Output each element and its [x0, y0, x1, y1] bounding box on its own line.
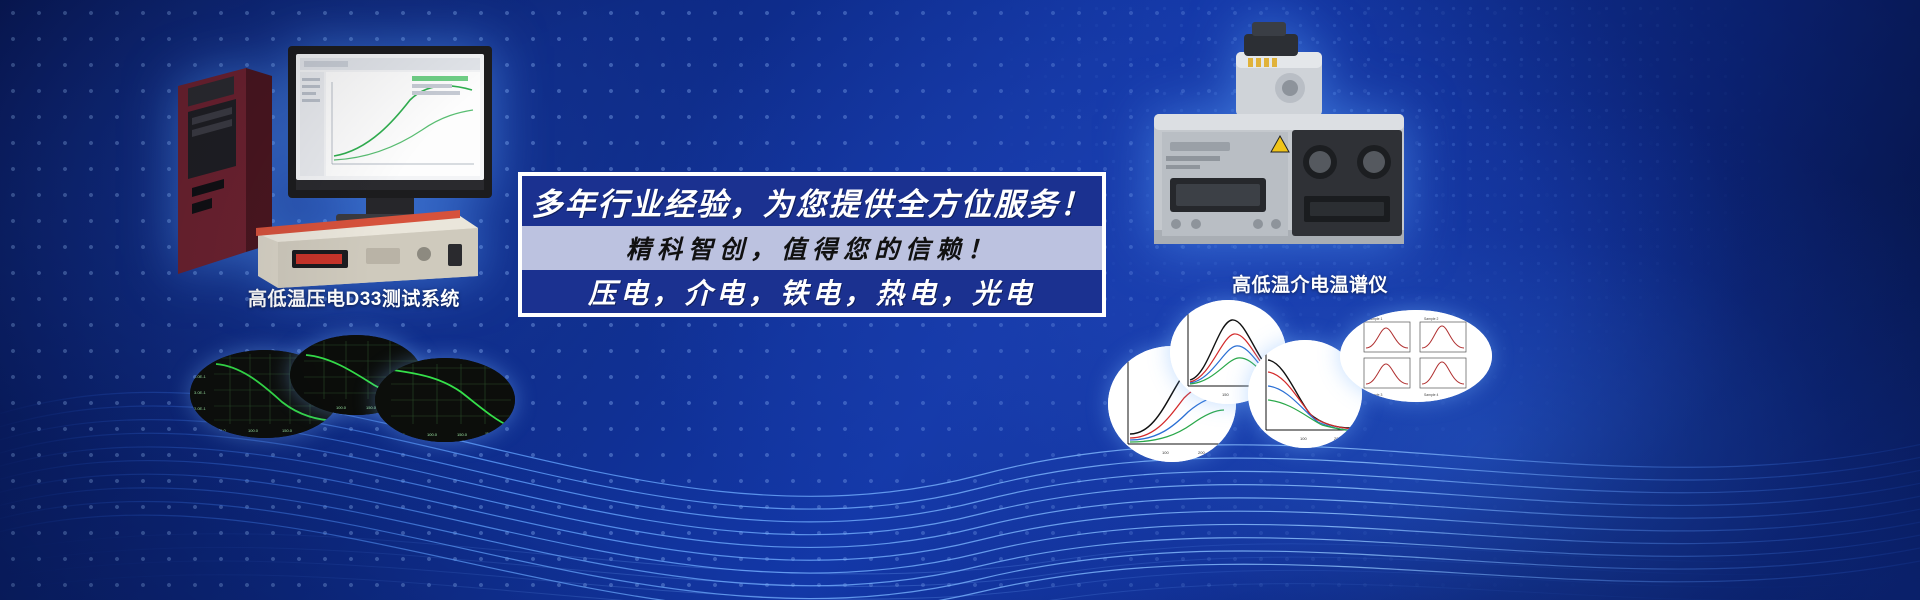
svg-text:2.0E-1: 2.0E-1 — [194, 406, 207, 411]
svg-text:100.0: 100.0 — [427, 432, 438, 437]
svg-text:150: 150 — [1222, 392, 1229, 397]
plot-four-panel: Sample 1Sample 2 Sample 3Sample 4 — [1340, 310, 1492, 402]
svg-text:Sample 1: Sample 1 — [1368, 317, 1382, 321]
svg-text:150.0: 150.0 — [457, 432, 468, 437]
message-panel: 多年行业经验，为您提供全方位服务！ 精科智创，值得您的信赖！ 压电，介电，铁电，… — [518, 172, 1106, 317]
svg-text:Sample 4: Sample 4 — [1424, 393, 1438, 397]
svg-text:100: 100 — [1162, 450, 1169, 455]
svg-text:100.0: 100.0 — [248, 428, 259, 433]
svg-text:Sample 3: Sample 3 — [1368, 393, 1382, 397]
promo-banner: 高低温压电D33测试系统 5.0E-14.0E-1 3.0E-12.0E-1 5… — [0, 0, 1920, 600]
product-caption-left: 高低温压电D33测试系统 — [248, 284, 460, 311]
controller-unit-icon — [256, 210, 478, 288]
svg-text:50.0: 50.0 — [397, 432, 406, 437]
instrument-body-icon — [1154, 114, 1404, 244]
svg-text:温度: 温度 — [485, 431, 493, 437]
svg-text:Sample 2: Sample 2 — [1424, 317, 1438, 321]
chart-thumbnail-3: 50.0100.0 150.0温度 — [375, 358, 515, 442]
svg-text:100: 100 — [1300, 436, 1307, 441]
plot-grid-green: 50.0100.0 150.0温度 — [375, 358, 515, 442]
product-photo-left — [160, 38, 520, 288]
panel-line-3: 压电，介电，铁电，热电，光电 — [522, 270, 1102, 313]
svg-text:50.0: 50.0 — [218, 428, 227, 433]
svg-text:100.0: 100.0 — [336, 405, 347, 410]
svg-text:200: 200 — [1334, 436, 1341, 441]
svg-text:150.0: 150.0 — [282, 428, 293, 433]
product-caption-right: 高低温介电温谱仪 — [1232, 270, 1388, 297]
chart-thumbnail-7: Sample 1Sample 2 Sample 3Sample 4 — [1340, 310, 1492, 402]
svg-text:200.0: 200.0 — [314, 428, 325, 433]
panel-line-1: 多年行业经验，为您提供全方位服务！ — [522, 176, 1102, 226]
svg-text:4.0E-1: 4.0E-1 — [194, 374, 207, 379]
svg-text:5.0E-1: 5.0E-1 — [194, 358, 207, 363]
svg-text:3.0E-1: 3.0E-1 — [194, 390, 207, 395]
monitor-icon — [288, 46, 492, 222]
svg-text:200: 200 — [1198, 450, 1205, 455]
product-photo-right — [1140, 18, 1440, 268]
panel-line-2: 精科智创，值得您的信赖！ — [522, 226, 1102, 270]
computer-tower-icon — [178, 68, 272, 274]
